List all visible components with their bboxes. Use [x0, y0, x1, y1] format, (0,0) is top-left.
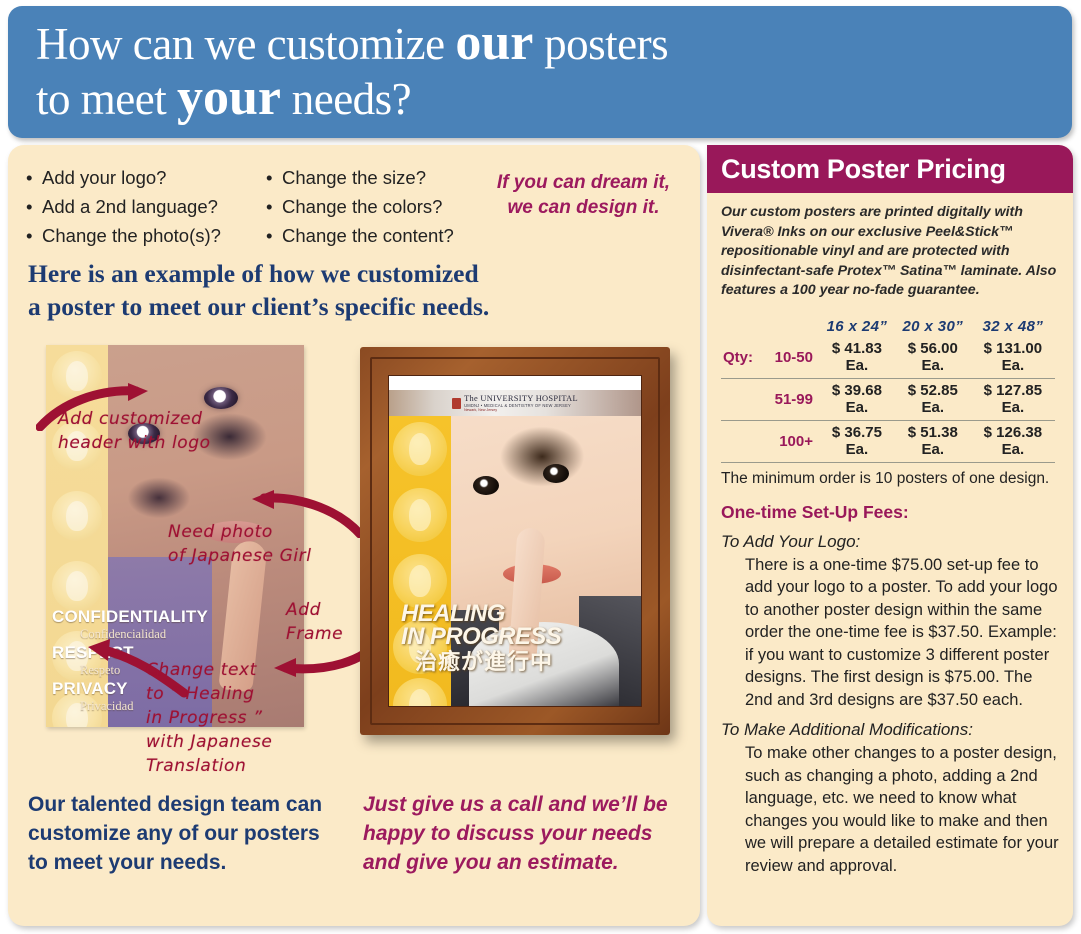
- pricing-panel: Custom Poster Pricing Our custom posters…: [707, 145, 1073, 926]
- pricing-intro-text: Our custom posters are printed digitally…: [721, 203, 1059, 301]
- example-heading-line-1: Here is an example of how we customized: [28, 257, 489, 290]
- poster-a-medallion-icon: [52, 491, 102, 541]
- minimum-order-note: The minimum order is 10 posters of one d…: [721, 470, 1059, 488]
- pricing-panel-title: Custom Poster Pricing: [707, 154, 1006, 185]
- bullet-dot-icon: •: [26, 163, 42, 192]
- poster-b-title-japanese: 治癒が進行中: [415, 644, 553, 676]
- pricing-head-spacer-2: [763, 318, 819, 337]
- table-row: 51-99 $ 39.68 Ea. $ 52.85 Ea. $ 127.85 E…: [721, 378, 1055, 420]
- poster-a-medallion-icon: [52, 351, 102, 401]
- price-cell: $ 41.83 Ea.: [819, 337, 895, 379]
- poster-b-title-line-1: HEALING: [401, 602, 561, 625]
- poster-b-medallion-icon: [393, 678, 447, 707]
- add-logo-subtitle: To Add Your Logo:: [721, 532, 1059, 552]
- header-banner: How can we customize our posters to meet…: [8, 6, 1072, 138]
- list-item: •Add your logo?: [26, 163, 266, 192]
- hospital-logo: The UNIVERSITY HOSPITAL UMDNJ • MEDICAL …: [452, 394, 578, 412]
- hospital-name: The UNIVERSITY HOSPITAL: [464, 394, 578, 403]
- qty-range: 51-99: [763, 378, 819, 420]
- bullet-label: Add your logo?: [42, 167, 166, 188]
- price-cell: $ 131.00 Ea.: [971, 337, 1055, 379]
- list-item: •Change the content?: [266, 221, 486, 250]
- column-header-size-3: 32 x 48”: [971, 318, 1055, 337]
- hospital-name-block: The UNIVERSITY HOSPITAL UMDNJ • MEDICAL …: [464, 394, 578, 412]
- header-line2-pre: to meet: [36, 74, 177, 124]
- bullet-dot-icon: •: [26, 192, 42, 221]
- bullet-column-2: •Change the size? •Change the colors? •C…: [266, 163, 486, 250]
- bullet-label: Change the size?: [282, 167, 426, 188]
- pricing-panel-body: Our custom posters are printed digitally…: [707, 193, 1073, 877]
- qty-range: 100+: [763, 420, 819, 462]
- modifications-subtitle: To Make Additional Modifications:: [721, 720, 1059, 740]
- price-cell: $ 56.00 Ea.: [895, 337, 971, 379]
- pricing-panel-header: Custom Poster Pricing: [707, 145, 1073, 193]
- bullet-dot-icon: •: [266, 221, 282, 250]
- header-line1-pre: How can we customize: [36, 19, 455, 69]
- list-item: •Add a 2nd language?: [26, 192, 266, 221]
- pricing-table: 16 x 24” 20 x 30” 32 x 48” Qty: 10-50 $ …: [721, 318, 1055, 463]
- modifications-body: To make other changes to a poster design…: [721, 742, 1059, 877]
- example-heading-line-2: a poster to meet our client’s specific n…: [28, 290, 489, 323]
- hospital-city: Newark, New Jersey: [464, 408, 578, 412]
- poster-b-title: HEALING IN PROGRESS: [401, 602, 561, 648]
- bullet-dot-icon: •: [26, 221, 42, 250]
- framed-poster-artwork: The UNIVERSITY HOSPITAL UMDNJ • MEDICAL …: [388, 375, 642, 707]
- header-line2-emphasis: your: [177, 69, 281, 126]
- price-cell: $ 36.75 Ea.: [819, 420, 895, 462]
- customization-options-list: •Add your logo? •Add a 2nd language? •Ch…: [26, 163, 486, 250]
- list-item: •Change the colors?: [266, 192, 486, 221]
- qty-label-empty-2: [721, 420, 763, 462]
- price-cell: $ 51.38 Ea.: [895, 420, 971, 462]
- price-cell: $ 127.85 Ea.: [971, 378, 1055, 420]
- bullet-dot-icon: •: [266, 163, 282, 192]
- annotation-add-header: Add customizedheader with logo: [58, 407, 211, 455]
- price-cell: $ 52.85 Ea.: [895, 378, 971, 420]
- framed-poster: The UNIVERSITY HOSPITAL UMDNJ • MEDICAL …: [360, 347, 670, 735]
- header-line1-emphasis: our: [455, 14, 533, 71]
- bullet-label: Change the photo(s)?: [42, 225, 221, 246]
- poster-b-medallion-icon: [393, 488, 447, 542]
- bullet-label: Change the colors?: [282, 196, 442, 217]
- tagline-line-2: we can design it.: [476, 195, 691, 220]
- poster-b-medallion-icon: [393, 422, 447, 476]
- call-us-message: Just give us a call and we’ll be happy t…: [363, 790, 688, 877]
- column-header-size-2: 20 x 30”: [895, 318, 971, 337]
- price-cell: $ 126.38 Ea.: [971, 420, 1055, 462]
- header-line-2: to meet your needs?: [8, 71, 1072, 126]
- poster-a-medallion-icon: [52, 561, 102, 611]
- list-item: •Change the size?: [266, 163, 486, 192]
- hospital-banner: The UNIVERSITY HOSPITAL UMDNJ • MEDICAL …: [389, 390, 641, 416]
- eye-icon: [543, 464, 569, 483]
- value-confidentiality: CONFIDENTIALITY: [52, 607, 242, 626]
- list-item: •Change the photo(s)?: [26, 221, 266, 250]
- header-line2-post: needs?: [281, 74, 411, 124]
- annotation-change-text: Change textto “ Healingin Progress ”with…: [146, 658, 272, 778]
- qty-range: 10-50: [763, 337, 819, 379]
- qty-label-empty: [721, 378, 763, 420]
- price-cell: $ 39.68 Ea.: [819, 378, 895, 420]
- header-line1-post: posters: [533, 19, 668, 69]
- column-header-size-1: 16 x 24”: [819, 318, 895, 337]
- poster-flyer-page: How can we customize our posters to meet…: [0, 0, 1081, 934]
- dream-tagline: If you can dream it, we can design it.: [476, 170, 691, 220]
- pricing-head-spacer: [721, 318, 763, 337]
- add-logo-body: There is a one-time $75.00 set-up fee to…: [721, 554, 1059, 712]
- value-confidentiality-es: Confidencialidad: [52, 626, 242, 643]
- bullet-label: Change the content?: [282, 225, 454, 246]
- annotation-need-photo: Need photoof Japanese Girl: [168, 520, 312, 568]
- eye-icon: [204, 387, 238, 409]
- bullet-dot-icon: •: [266, 192, 282, 221]
- table-row: 100+ $ 36.75 Ea. $ 51.38 Ea. $ 126.38 Ea…: [721, 420, 1055, 462]
- table-row: Qty: 10-50 $ 41.83 Ea. $ 56.00 Ea. $ 131…: [721, 337, 1055, 379]
- annotation-add-frame: AddFrame: [286, 598, 343, 646]
- pricing-table-head-row: 16 x 24” 20 x 30” 32 x 48”: [721, 318, 1055, 337]
- example-heading: Here is an example of how we customized …: [28, 257, 489, 323]
- design-team-message: Our talented design team can customize a…: [28, 790, 328, 877]
- qty-label: Qty:: [721, 337, 763, 379]
- header-line-1: How can we customize our posters: [8, 6, 1072, 71]
- bullet-label: Add a 2nd language?: [42, 196, 218, 217]
- hospital-mark-icon: [452, 398, 461, 409]
- eye-icon: [473, 476, 499, 495]
- setup-fees-title: One-time Set-Up Fees:: [721, 502, 1059, 523]
- tagline-line-1: If you can dream it,: [476, 170, 691, 195]
- left-content-panel: •Add your logo? •Add a 2nd language? •Ch…: [8, 145, 700, 926]
- bullet-column-1: •Add your logo? •Add a 2nd language? •Ch…: [26, 163, 266, 250]
